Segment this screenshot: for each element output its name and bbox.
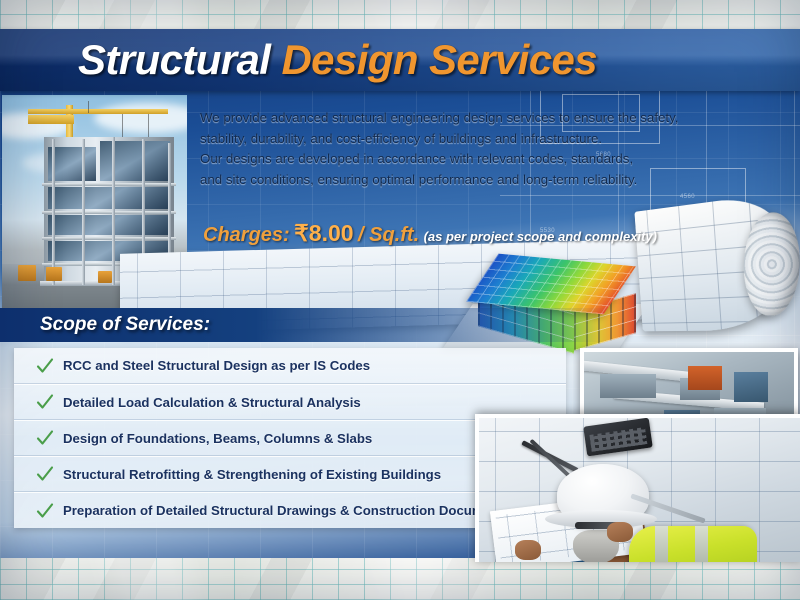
charges-amount: ₹8.00 [294, 220, 353, 246]
description-line: and site conditions, ensuring optimal pe… [200, 170, 700, 191]
engineer-hand [515, 540, 541, 560]
list-item-label: Detailed Load Calculation & Structural A… [63, 395, 361, 410]
title-part-structural: Structural [78, 36, 270, 83]
check-icon [36, 502, 54, 520]
charges-line: Charges: ₹8.00 / Sq.ft. (as per project … [203, 220, 657, 247]
scope-heading: Scope of Services: [40, 314, 210, 336]
structural-design-services-poster: 5600 3145 5680 4560 5530 5560 [0, 0, 800, 600]
check-icon [36, 393, 54, 411]
list-item-label: Structural Retrofitting & Strengthening … [63, 467, 441, 482]
list-item-label: Design of Foundations, Beams, Columns & … [63, 431, 372, 446]
scope-heading-bar: Scope of Services: [0, 308, 610, 342]
crane-jib [28, 109, 168, 114]
rolled-blueprint-image [626, 182, 800, 354]
check-icon [36, 357, 54, 375]
description-line: stability, durability, and cost-efficien… [200, 129, 700, 150]
title-part-design-services: Design Services [281, 36, 597, 83]
check-icon [36, 429, 54, 447]
list-item-label: RCC and Steel Structural Design as per I… [63, 358, 370, 373]
charges-unit: / Sq.ft. [358, 224, 419, 246]
engineer-hand [607, 522, 633, 542]
description-block: We provide advanced structural engineeri… [200, 108, 700, 190]
description-line: Our designs are developed in accordance … [200, 149, 700, 170]
graph-paper-bottom-strip [0, 558, 800, 600]
graph-paper-top-strip [0, 0, 800, 30]
charges-note: (as per project scope and complexity) [424, 229, 657, 244]
title-bar: Structural Design Services [0, 29, 800, 91]
charges-label: Charges: [203, 224, 290, 246]
hi-vis-vest [629, 526, 757, 562]
page-title: Structural Design Services [78, 36, 597, 84]
engineer-reviewing-drawings-photo [475, 414, 800, 562]
list-item[interactable]: RCC and Steel Structural Design as per I… [14, 348, 566, 384]
list-item-label: Preparation of Detailed Structural Drawi… [63, 503, 511, 518]
description-line: We provide advanced structural engineeri… [200, 108, 700, 129]
check-icon [36, 465, 54, 483]
